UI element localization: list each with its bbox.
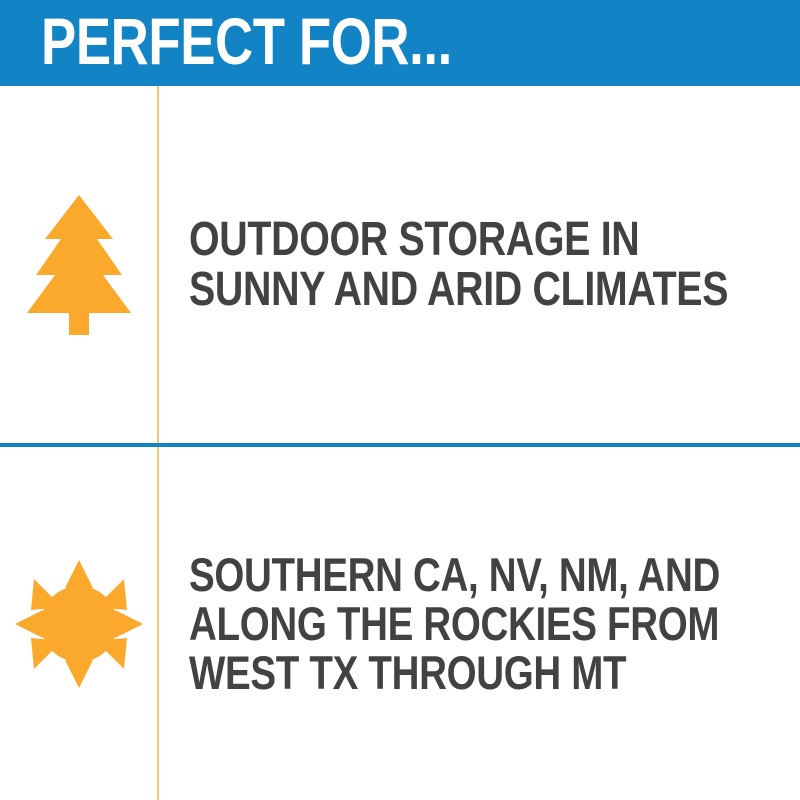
page-title: PERFECT FOR... bbox=[41, 5, 452, 77]
pine-tree-icon bbox=[27, 195, 131, 335]
content-row-regions: SOUTHERN CA, NV, NM, AND ALONG THE ROCKI… bbox=[0, 447, 800, 800]
text-line: SUNNY AND ARID CLIMATES bbox=[189, 265, 690, 315]
icon-cell-regions bbox=[0, 447, 157, 800]
icon-cell-outdoor-storage bbox=[0, 86, 157, 443]
horizontal-divider bbox=[0, 443, 800, 447]
text-cell-outdoor-storage: OUTDOOR STORAGE IN SUNNY AND ARID CLIMAT… bbox=[157, 86, 800, 443]
sun-icon bbox=[15, 560, 143, 688]
perfect-for-infographic: PERFECT FOR... OUTDOOR STORAGE IN SUNNY … bbox=[0, 0, 800, 800]
text-line: SOUTHERN CA, NV, NM, AND bbox=[189, 550, 690, 599]
content-row-outdoor-storage: OUTDOOR STORAGE IN SUNNY AND ARID CLIMAT… bbox=[0, 86, 800, 443]
text-cell-regions: SOUTHERN CA, NV, NM, AND ALONG THE ROCKI… bbox=[157, 447, 800, 800]
header-banner: PERFECT FOR... bbox=[0, 0, 800, 86]
text-line: OUTDOOR STORAGE IN bbox=[189, 215, 690, 265]
text-line: ALONG THE ROCKIES FROM bbox=[189, 599, 690, 648]
text-line: WEST TX THROUGH MT bbox=[189, 648, 690, 697]
